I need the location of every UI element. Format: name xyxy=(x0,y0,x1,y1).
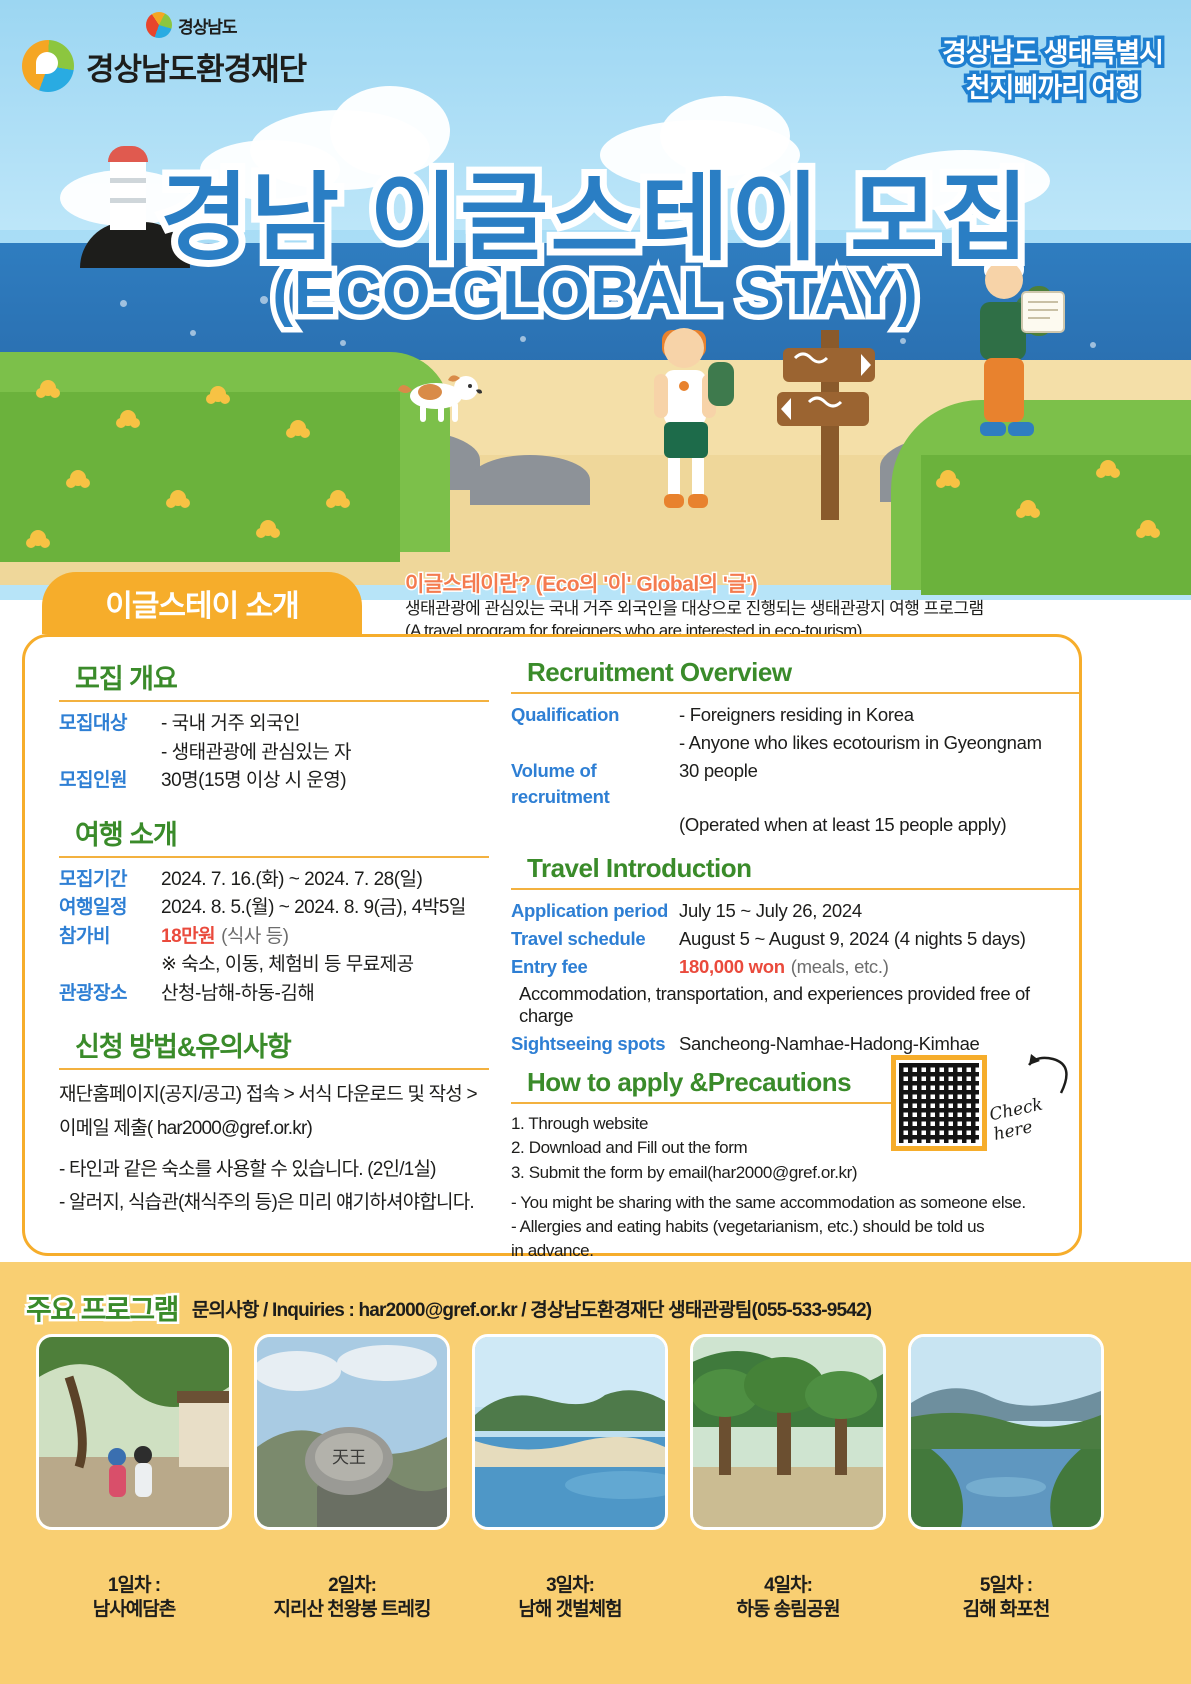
intro-tab-label: 이글스테이 소개 xyxy=(105,581,299,625)
campaign-badge-line1: 경상남도 생태특별시 xyxy=(942,36,1163,71)
english-qualification-line1: - Foreigners residing in Korea xyxy=(679,702,914,729)
korean-overview-heading: 모집 개요 xyxy=(75,657,495,696)
foundation-name: 경상남도환경재단 xyxy=(86,44,306,89)
flower-icon xyxy=(330,490,346,506)
korean-target-row: 모집대상 - 국내 거주 외국인 xyxy=(59,710,495,738)
program-photo-day3 xyxy=(472,1334,668,1530)
divider xyxy=(59,1068,489,1070)
english-qualification-row: Qualification - Foreigners residing in K… xyxy=(511,702,1085,729)
korean-fee-label: 참가비 xyxy=(59,923,161,951)
program-day-label: 5일차 : xyxy=(908,1574,1104,1598)
english-precaution-1: - You might be sharing with the same acc… xyxy=(511,1191,1085,1215)
korean-target-row2: - 생태관광에 관심있는 자 xyxy=(161,739,495,767)
grass-left-front xyxy=(0,392,400,562)
english-apply-step3: 3. Submit the form by email(har2000@gref… xyxy=(511,1161,1085,1185)
program-caption-day2: 2일차: 지리산 천왕봉 트레킹 xyxy=(254,1574,450,1622)
korean-fee-suffix: (식사 등) xyxy=(221,923,288,951)
korean-apply-step1: 재단홈페이지(공지/공고) 접속 > 서식 다운로드 및 작성 > xyxy=(59,1078,495,1111)
divider xyxy=(511,1102,905,1104)
english-qualification-row2: - Anyone who likes ecotourism in Gyeongn… xyxy=(679,730,1085,757)
program-card: 1일차 : 남사예담촌 xyxy=(36,1334,232,1622)
qr-code-pattern xyxy=(899,1063,979,1143)
sea-sparkle xyxy=(520,336,526,342)
english-volume-value: 30 people xyxy=(679,758,758,785)
program-card: 5일차 : 김해 화포천 xyxy=(908,1334,1104,1622)
divider xyxy=(511,888,1079,890)
footer-section: 주요 프로그램 문의사항 / Inquiries : har2000@gref.… xyxy=(0,1262,1191,1684)
english-precaution-2b: in advance. xyxy=(511,1239,1085,1263)
info-card: 모집 개요 모집대상 - 국내 거주 외국인 - 생태관광에 관심있는 자 모집… xyxy=(22,634,1082,1256)
english-period-value: July 15 ~ July 26, 2024 xyxy=(679,898,862,925)
korean-schedule-value: 2024. 8. 5.(월) ~ 2024. 8. 9(금), 4박5일 xyxy=(161,894,466,922)
korean-travel-heading: 여행 소개 xyxy=(75,813,495,852)
flower-icon xyxy=(290,420,306,436)
intro-section: 이글스테이 소개 이글스테이란? (Eco의 '이' Global의 '글') … xyxy=(0,566,1191,634)
korean-schedule-label: 여행일정 xyxy=(59,894,161,922)
english-period-row: Application period July 15 ~ July 26, 20… xyxy=(511,898,1085,925)
english-fee-note: Accommodation, transportation, and exper… xyxy=(519,983,1085,1027)
flower-icon xyxy=(210,386,226,402)
english-schedule-label: Travel schedule xyxy=(511,926,679,953)
english-volume-note-row: (Operated when at least 15 people apply) xyxy=(679,812,1085,839)
intro-headline: 이글스테이란? (Eco의 '이' Global의 '글') xyxy=(405,568,1105,598)
sea-sparkle xyxy=(340,340,346,346)
program-photo-day4 xyxy=(690,1334,886,1530)
flower-icon xyxy=(1100,460,1116,476)
program-place-label: 김해 화포천 xyxy=(908,1598,1104,1622)
english-spots-label: Sightseeing spots xyxy=(511,1031,679,1058)
program-caption-day1: 1일차 : 남사예담촌 xyxy=(36,1574,232,1622)
english-volume-row: Volume of recruitment 30 people xyxy=(511,758,1085,812)
korean-precaution-1: - 타인과 같은 숙소를 사용할 수 있습니다. (2인/1실) xyxy=(59,1153,495,1186)
english-schedule-row: Travel schedule August 5 ~ August 9, 202… xyxy=(511,926,1085,953)
program-photo-day5 xyxy=(908,1334,1104,1530)
english-fee-row: Entry fee 180,000 won (meals, etc.) xyxy=(511,954,1085,981)
english-schedule-value: August 5 ~ August 9, 2024 (4 nights 5 da… xyxy=(679,926,1026,953)
korean-apply-step2: 이메일 제출( har2000@gref.or.kr) xyxy=(59,1112,495,1145)
divider xyxy=(511,692,1079,694)
program-day-label: 1일차 : xyxy=(36,1574,232,1598)
program-place-label: 남해 갯벌체험 xyxy=(472,1598,668,1622)
english-volume-note: (Operated when at least 15 people apply) xyxy=(679,812,1006,839)
program-card: 天王 2일차: 지리산 천왕봉 트레킹 xyxy=(254,1334,450,1622)
program-place-label: 남사예담촌 xyxy=(36,1598,232,1622)
qr-code[interactable] xyxy=(891,1055,987,1151)
flower-icon xyxy=(260,520,276,536)
program-card: 3일차: 남해 갯벌체험 xyxy=(472,1334,668,1622)
english-volume-label: Volume of recruitment xyxy=(511,758,679,812)
intro-tab: 이글스테이 소개 xyxy=(42,572,362,634)
svg-text:天王: 天王 xyxy=(332,1448,366,1468)
province-logo-icon xyxy=(146,12,172,38)
korean-period-label: 모집기간 xyxy=(59,866,161,894)
korean-spots-label: 관광장소 xyxy=(59,980,161,1008)
korean-volume-value: 30명(15명 이상 시 운영) xyxy=(161,767,346,795)
english-overview-heading: Recruitment Overview xyxy=(527,657,1085,688)
hero-banner: 경상남도환경재단 경상남도 경상남도 생태특별시 천지삐까리 여행 경남 이글스… xyxy=(0,0,1191,600)
foundation-logo-icon xyxy=(22,40,74,92)
footer-header: 주요 프로그램 문의사항 / Inquiries : har2000@gref.… xyxy=(26,1288,871,1328)
flower-icon xyxy=(40,380,56,396)
program-photo-day1 xyxy=(36,1334,232,1530)
english-spots-value: Sancheong-Namhae-Hadong-Kimhae xyxy=(679,1031,980,1058)
dog-illustration xyxy=(390,368,486,426)
korean-precaution-2: - 알러지, 식습관(채식주의 등)은 미리 얘기하셔야합니다. xyxy=(59,1186,495,1219)
english-precaution-2: - Allergies and eating habits (vegetaria… xyxy=(511,1215,1085,1239)
program-caption-day5: 5일차 : 김해 화포천 xyxy=(908,1574,1104,1622)
korean-volume-row: 모집인원 30명(15명 이상 시 운영) xyxy=(59,767,495,795)
sea-sparkle xyxy=(190,330,196,336)
program-place-label: 지리산 천왕봉 트레킹 xyxy=(254,1598,450,1622)
program-place-label: 하동 송림공원 xyxy=(690,1598,886,1622)
inquiry-line: 문의사항 / Inquiries : har2000@gref.or.kr / … xyxy=(192,1295,871,1322)
program-section-title: 주요 프로그램 xyxy=(26,1288,178,1328)
korean-apply-heading: 신청 방법&유의사항 xyxy=(75,1025,495,1064)
intro-text-block: 이글스테이란? (Eco의 '이' Global의 '글') 생태관광에 관심있… xyxy=(405,568,1105,643)
footer-scallop-edge xyxy=(0,1262,1191,1284)
english-qualification-label: Qualification xyxy=(511,702,679,729)
foundation-logo: 경상남도환경재단 xyxy=(22,40,306,92)
program-caption-day3: 3일차: 남해 갯벌체험 xyxy=(472,1574,668,1622)
korean-target-line1: - 국내 거주 외국인 xyxy=(161,710,300,738)
english-fee-suffix: (meals, etc.) xyxy=(791,954,889,981)
province-name: 경상남도 xyxy=(178,13,237,38)
korean-target-line2: - 생태관광에 관심있는 자 xyxy=(161,739,351,767)
province-logo: 경상남도 xyxy=(146,12,237,38)
korean-fee-note-row: ※ 숙소, 이동, 체험비 등 무료제공 xyxy=(161,951,495,979)
program-photo-day2: 天王 xyxy=(254,1334,450,1530)
korean-period-row: 모집기간 2024. 7. 16.(화) ~ 2024. 7. 28(일) xyxy=(59,866,495,894)
signpost-illustration xyxy=(775,330,885,520)
flower-icon xyxy=(70,470,86,486)
sea-sparkle xyxy=(900,338,906,344)
program-caption-day4: 4일차: 하동 송림공원 xyxy=(690,1574,886,1622)
english-fee-label: Entry fee xyxy=(511,954,679,981)
intro-description-korean: 생태관광에 관심있는 국내 거주 외국인을 대상으로 진행되는 생태관광지 여행… xyxy=(405,598,1105,620)
korean-fee-row: 참가비 18만원 (식사 등) xyxy=(59,923,495,951)
korean-column: 모집 개요 모집대상 - 국내 거주 외국인 - 생태관광에 관심있는 자 모집… xyxy=(25,637,495,1219)
korean-fee-note: ※ 숙소, 이동, 체험비 등 무료제공 xyxy=(161,951,414,979)
korean-spots-value: 산청-남해-하동-김해 xyxy=(161,980,314,1008)
divider xyxy=(59,700,489,702)
hiker-illustration-center xyxy=(640,300,750,540)
flower-icon xyxy=(30,530,46,546)
english-period-label: Application period xyxy=(511,898,679,925)
korean-fee-value: 18만원 xyxy=(161,923,215,951)
flower-icon xyxy=(1140,520,1156,536)
korean-volume-label: 모집인원 xyxy=(59,767,161,795)
campaign-badge: 경상남도 생태특별시 천지삐까리 여행 xyxy=(942,36,1163,105)
flower-icon xyxy=(1020,500,1036,516)
flower-icon xyxy=(170,490,186,506)
program-card: 4일차: 하동 송림공원 xyxy=(690,1334,886,1622)
korean-schedule-row: 여행일정 2024. 8. 5.(월) ~ 2024. 8. 9(금), 4박5… xyxy=(59,894,495,922)
sea-sparkle xyxy=(1090,342,1096,348)
korean-target-label: 모집대상 xyxy=(59,710,161,738)
program-day-label: 4일차: xyxy=(690,1574,886,1598)
english-column: Recruitment Overview Qualification - For… xyxy=(505,637,1085,1263)
poster-title-english: (ECO-GLOBAL STAY) xyxy=(0,258,1191,329)
program-day-label: 2일차: xyxy=(254,1574,450,1598)
campaign-badge-line2: 천지삐까리 여행 xyxy=(942,71,1163,106)
rock-shape xyxy=(470,455,590,505)
program-card-list: 1일차 : 남사예담촌 天王 2일차: 지리산 천왕봉 xyxy=(36,1334,1104,1622)
english-travel-heading: Travel Introduction xyxy=(527,853,1085,884)
korean-period-value: 2024. 7. 16.(화) ~ 2024. 7. 28(일) xyxy=(161,866,422,894)
english-fee-value: 180,000 won xyxy=(679,954,785,981)
program-day-label: 3일차: xyxy=(472,1574,668,1598)
flower-icon xyxy=(120,410,136,426)
divider xyxy=(59,856,489,858)
english-qualification-line2: - Anyone who likes ecotourism in Gyeongn… xyxy=(679,730,1042,757)
korean-spots-row: 관광장소 산청-남해-하동-김해 xyxy=(59,980,495,1008)
